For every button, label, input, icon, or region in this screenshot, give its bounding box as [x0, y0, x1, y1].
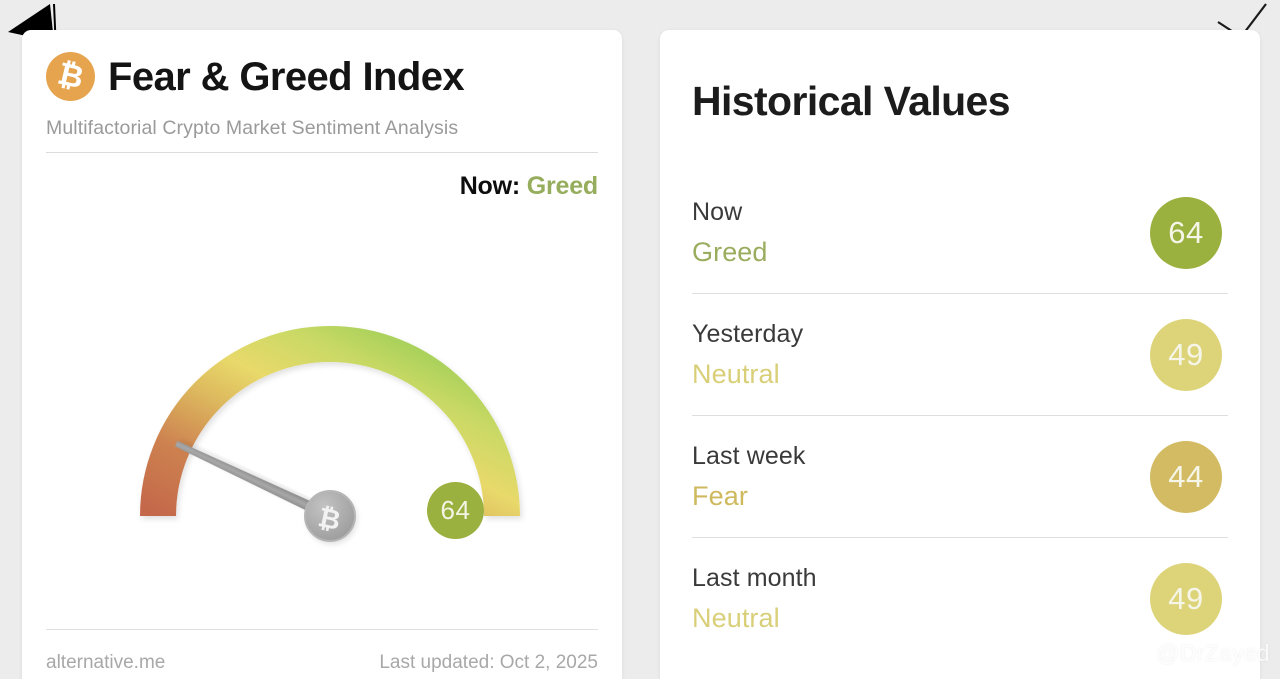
gauge-value-badge-text: 64 — [441, 495, 471, 526]
history-value-badge: 49 — [1150, 563, 1222, 635]
history-row-text: Last weekFear — [692, 442, 805, 512]
history-value-badge: 44 — [1150, 441, 1222, 513]
bitcoin-icon: ₿ — [46, 52, 95, 101]
history-classification-label: Fear — [692, 481, 805, 512]
history-row: NowGreed64 — [692, 172, 1228, 294]
screenshot-root: ₿ Fear & Greed Index Multifactorial Cryp… — [0, 0, 1280, 679]
page-subtitle: Multifactorial Crypto Market Sentiment A… — [46, 117, 598, 140]
historical-values-title: Historical Values — [692, 78, 1010, 125]
title-row: ₿ Fear & Greed Index — [46, 52, 598, 101]
history-row: YesterdayNeutral49 — [692, 294, 1228, 416]
gauge-visualization: ₿ 64 — [22, 248, 622, 638]
history-row-text: NowGreed — [692, 198, 768, 268]
historical-values-card: Historical Values NowGreed64YesterdayNeu… — [660, 30, 1260, 679]
history-period-label: Yesterday — [692, 320, 803, 349]
footer-divider — [46, 629, 598, 630]
source-label[interactable]: alternative.me — [46, 652, 165, 674]
now-status-row: Now: Greed — [46, 172, 598, 201]
history-value-badge: 64 — [1150, 197, 1222, 269]
history-classification-label: Greed — [692, 237, 768, 268]
bitcoin-hub-icon: ₿ — [305, 491, 355, 541]
gauge-card-header: ₿ Fear & Greed Index Multifactorial Cryp… — [46, 52, 598, 201]
history-period-label: Last week — [692, 442, 805, 471]
gauge-card-footer: alternative.me Last updated: Oct 2, 2025 — [46, 652, 598, 674]
history-period-label: Now — [692, 198, 768, 227]
now-label: Now: — [460, 172, 520, 200]
page-title: Fear & Greed Index — [108, 57, 464, 97]
history-classification-label: Neutral — [692, 603, 817, 634]
history-period-label: Last month — [692, 564, 817, 593]
history-row-text: Last monthNeutral — [692, 564, 817, 634]
now-value: Greed — [527, 172, 598, 200]
fear-greed-gauge-card: ₿ Fear & Greed Index Multifactorial Cryp… — [22, 30, 622, 679]
history-row: Last weekFear44 — [692, 416, 1228, 538]
historical-values-list: NowGreed64YesterdayNeutral49Last weekFea… — [692, 172, 1228, 660]
history-row-text: YesterdayNeutral — [692, 320, 803, 390]
last-updated-label: Last updated: Oct 2, 2025 — [379, 652, 598, 674]
header-divider — [46, 152, 598, 153]
history-row: Last monthNeutral49 — [692, 538, 1228, 660]
history-classification-label: Neutral — [692, 359, 803, 390]
gauge-arc-svg: ₿ — [110, 248, 550, 628]
bitcoin-glyph: ₿ — [55, 59, 87, 95]
history-value-badge: 49 — [1150, 319, 1222, 391]
gauge-value-badge: 64 — [427, 482, 484, 539]
